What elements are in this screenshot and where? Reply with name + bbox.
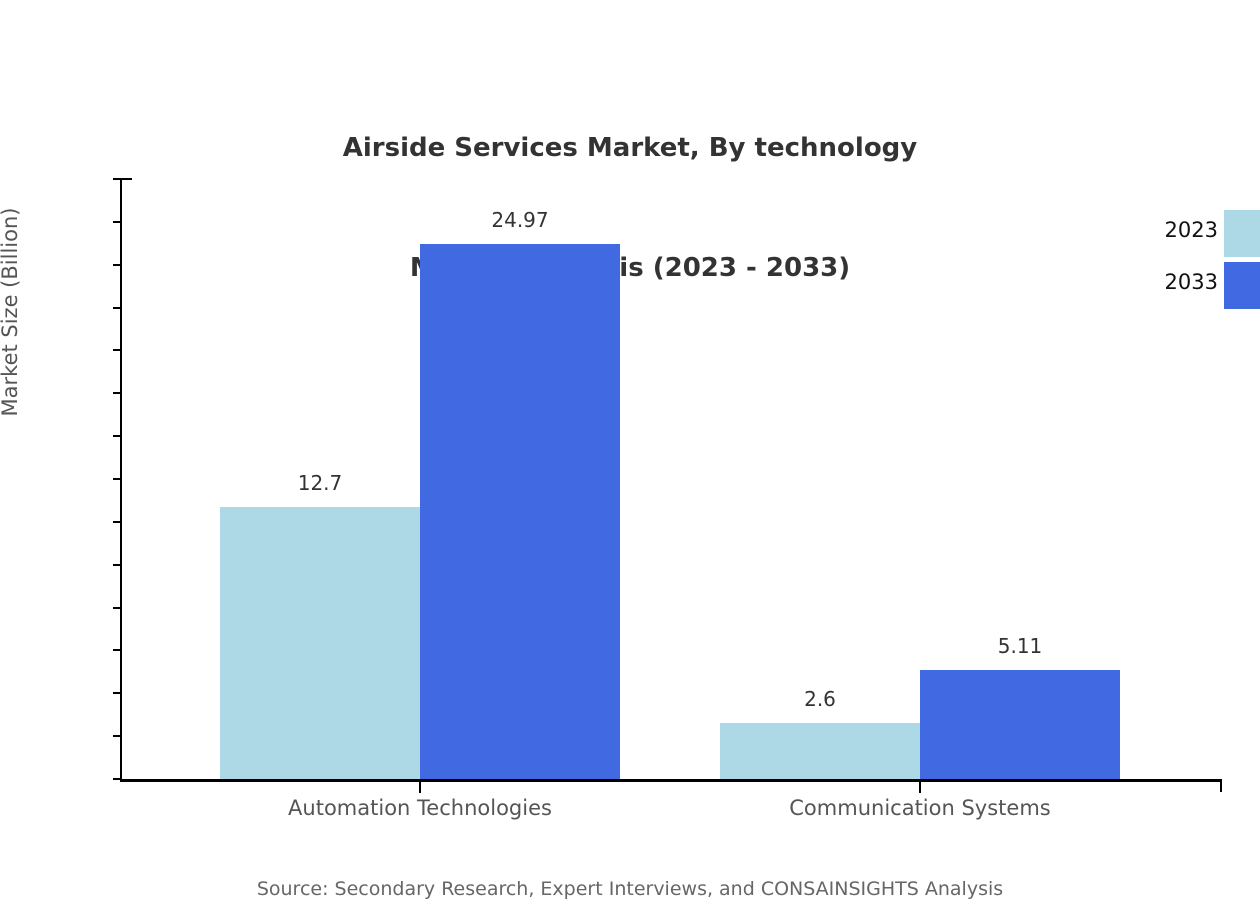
legend-swatch-2033 xyxy=(1224,262,1260,309)
y-axis-tick xyxy=(113,607,120,609)
bar-2023-0[interactable] xyxy=(220,507,420,779)
x-axis-tick xyxy=(419,782,421,793)
x-axis-category-label: Automation Technologies xyxy=(288,796,552,820)
y-axis-tick xyxy=(113,307,120,309)
x-axis-right-cap xyxy=(1220,779,1222,792)
bar-value-label: 5.11 xyxy=(998,634,1043,658)
y-axis-tick xyxy=(113,564,120,566)
y-axis-line xyxy=(120,178,122,781)
x-axis-line xyxy=(120,779,1222,782)
bar-chart: Airside Services Market, By technology M… xyxy=(0,0,1260,920)
bar-2023-1[interactable] xyxy=(720,723,920,779)
y-axis-tick xyxy=(113,392,120,394)
bar-2033-1[interactable] xyxy=(920,670,1120,780)
y-axis-tick xyxy=(113,735,120,737)
y-axis-tick xyxy=(113,521,120,523)
legend-label-2023: 2023 xyxy=(1165,218,1218,242)
y-axis-tick xyxy=(113,649,120,651)
bar-value-label: 24.97 xyxy=(491,208,548,232)
y-axis-tick xyxy=(113,349,120,351)
y-axis-top-cap xyxy=(120,178,132,180)
legend-label-2033: 2033 xyxy=(1165,270,1218,294)
y-axis-tick xyxy=(113,478,120,480)
bar-2033-0[interactable] xyxy=(420,244,620,779)
bar-value-label: 12.7 xyxy=(298,471,343,495)
x-axis-category-label: Communication Systems xyxy=(789,796,1050,820)
y-axis-tick xyxy=(113,178,120,180)
y-axis-title: Market Size (Billion) xyxy=(0,32,22,592)
plot-area: 12.724.972.65.11 Automation Technologies… xyxy=(120,178,1222,781)
legend-item-2023[interactable]: 2023 xyxy=(1130,210,1260,262)
legend-swatch-2023 xyxy=(1224,210,1260,257)
y-axis-tick xyxy=(113,692,120,694)
chart-title-line-1: Airside Services Market, By technology xyxy=(0,128,1260,168)
legend-item-2033[interactable]: 2033 xyxy=(1130,262,1260,314)
bar-value-label: 2.6 xyxy=(804,687,836,711)
y-axis-tick xyxy=(113,778,120,780)
source-note: Source: Secondary Research, Expert Inter… xyxy=(0,878,1260,900)
y-axis-tick xyxy=(113,435,120,437)
chart-legend: 20232033 xyxy=(1130,210,1260,314)
y-axis-tick xyxy=(113,264,120,266)
y-axis-tick xyxy=(113,221,120,223)
x-axis-tick xyxy=(919,782,921,793)
